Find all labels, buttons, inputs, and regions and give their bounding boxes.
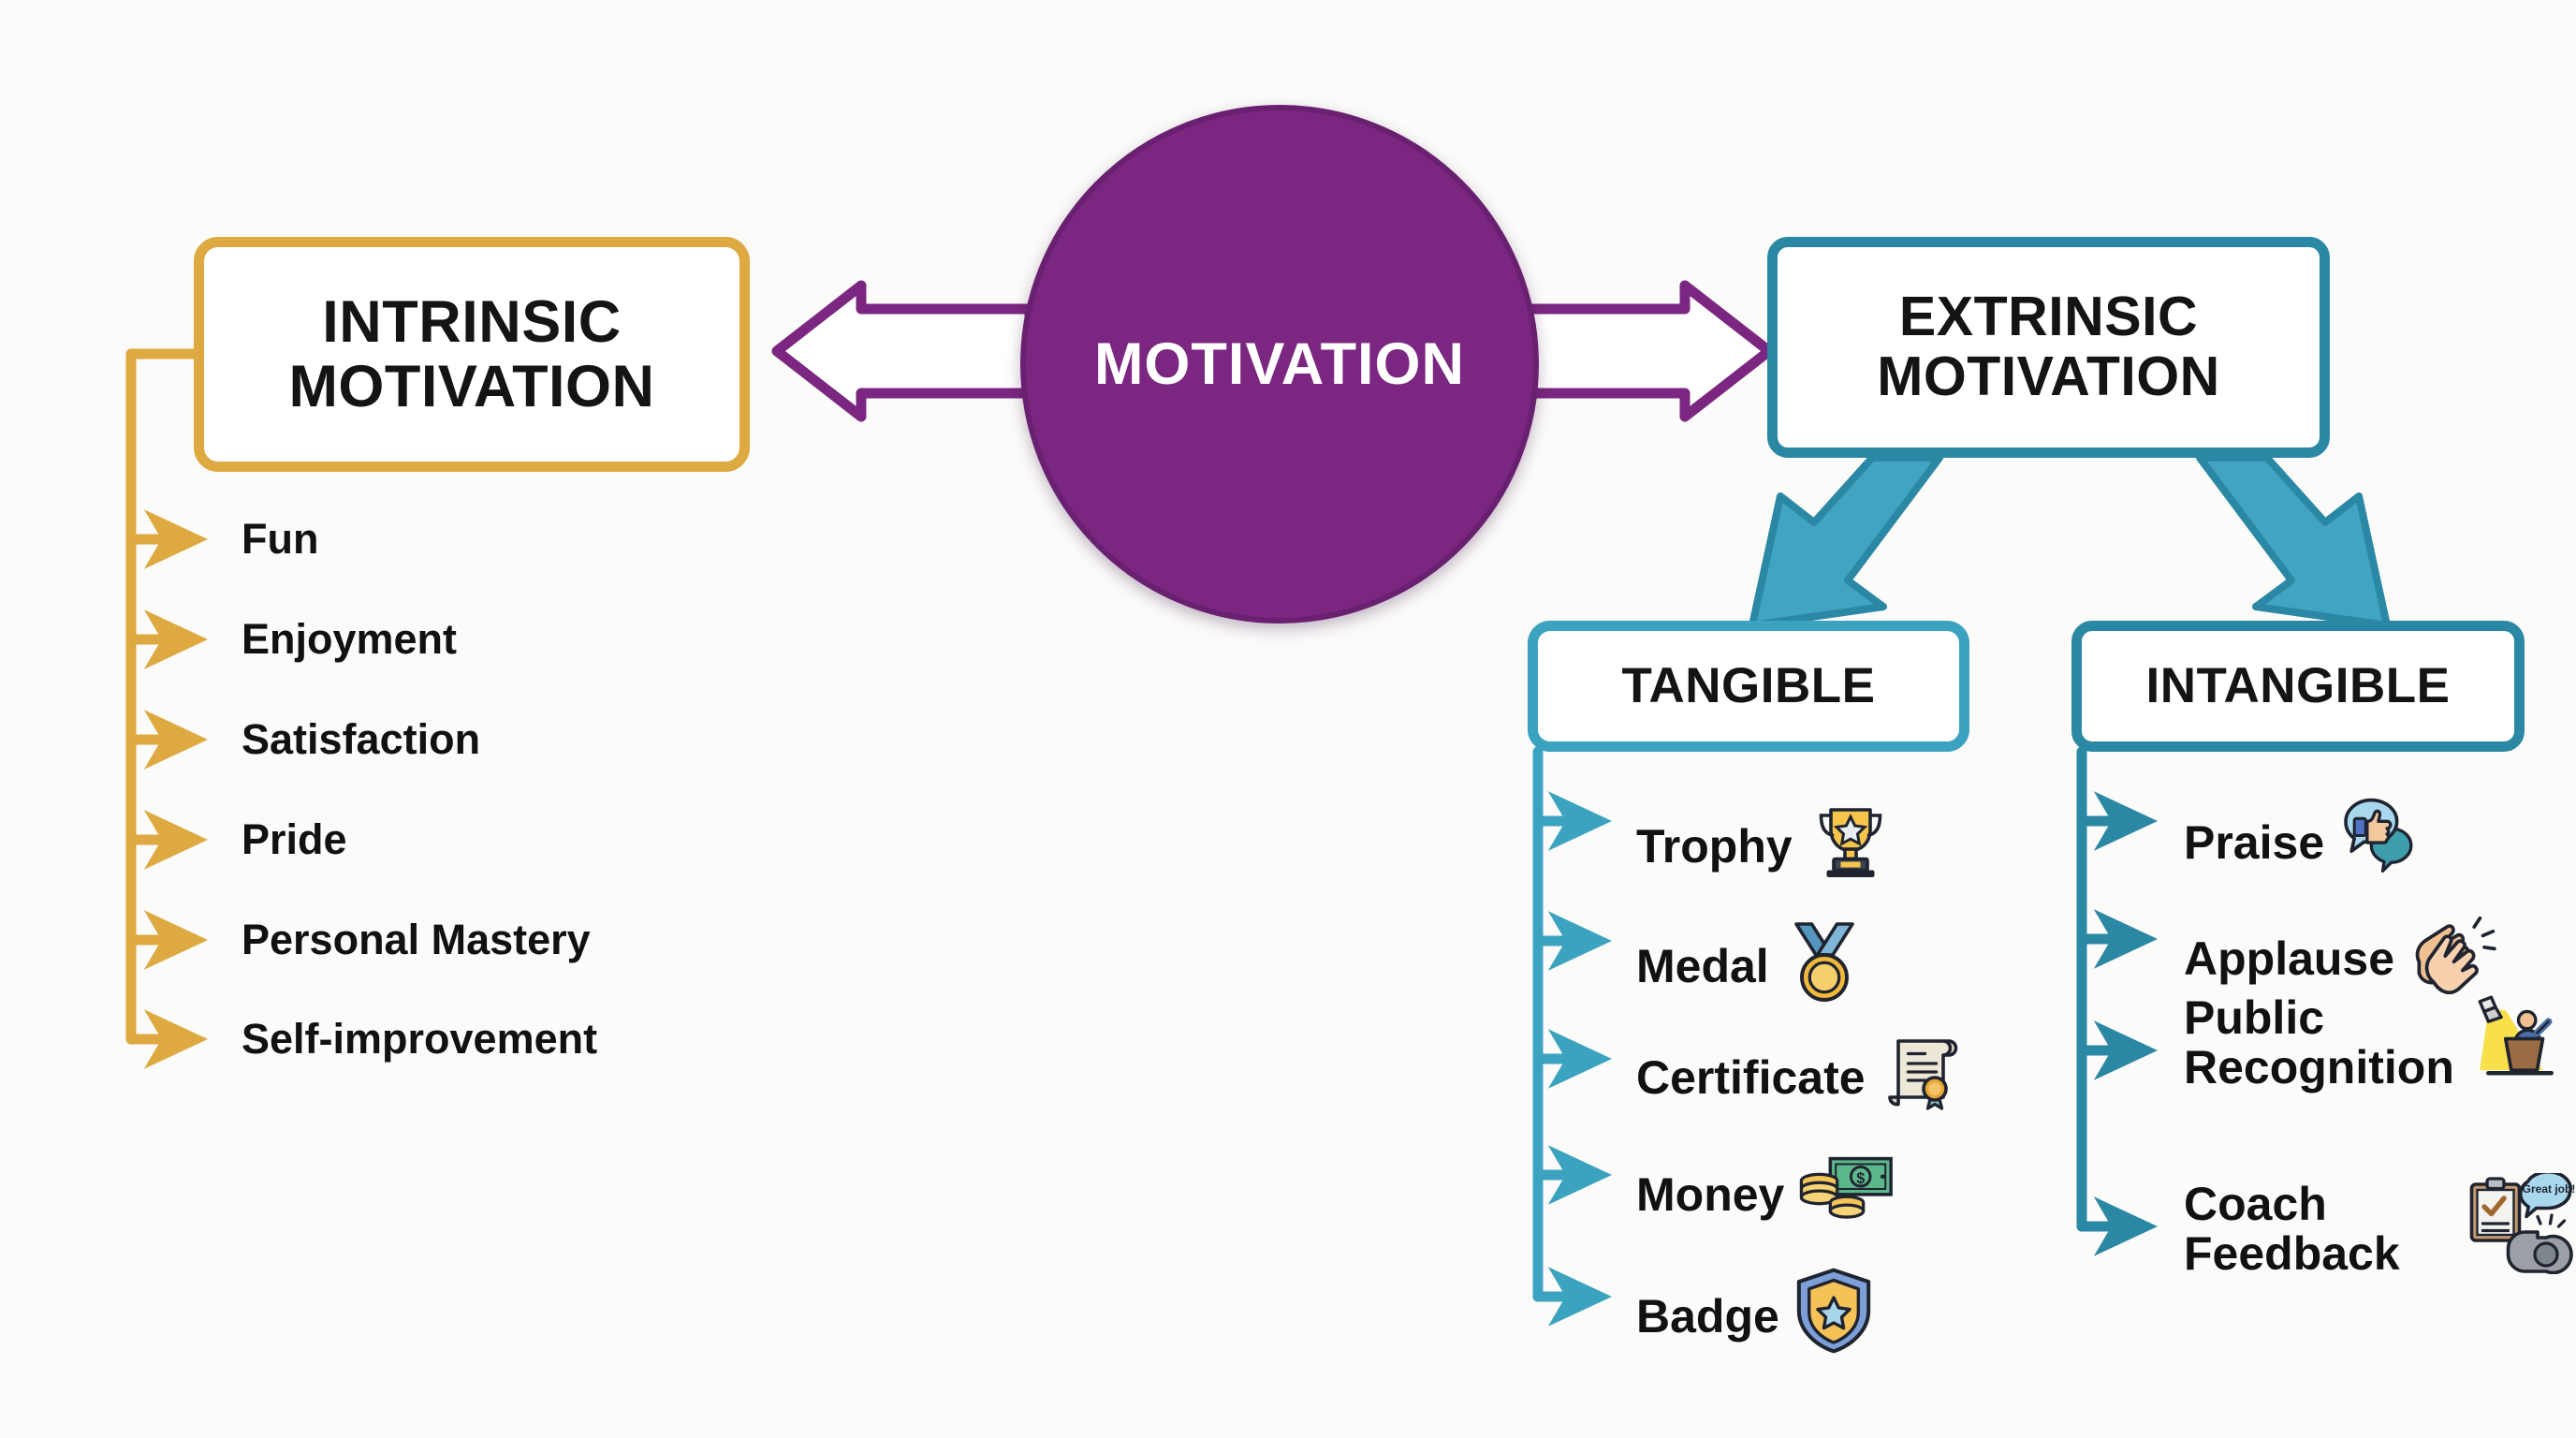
badge-icon bbox=[1793, 1266, 1875, 1367]
extrinsic-label-line1: EXTRINSIC bbox=[1899, 286, 2198, 347]
tangible-item-label: Certificate bbox=[1636, 1053, 1866, 1103]
intrinsic-motivation-label: INTRINSIC MOTIVATION bbox=[288, 290, 654, 418]
intrinsic-item-label: Pride bbox=[241, 817, 347, 862]
clipboard-whistle-icon: Great job! bbox=[2466, 1173, 2576, 1285]
intrinsic-connector-spine bbox=[131, 354, 194, 1039]
extrinsic-motivation-box[interactable]: EXTRINSIC MOTIVATION bbox=[1767, 237, 2330, 458]
intangible-item-label: Public Recognition bbox=[2184, 993, 2455, 1093]
list-item[interactable]: Coach Feedback Great job! bbox=[2184, 1173, 2576, 1285]
intrinsic-item-label: Fun bbox=[241, 517, 318, 562]
intrinsic-item-label: Satisfaction bbox=[241, 717, 480, 762]
tangible-label: TANGIBLE bbox=[1622, 659, 1876, 712]
list-item[interactable]: Certificate bbox=[1636, 1030, 1969, 1125]
podium-speaker-icon bbox=[2468, 992, 2566, 1093]
list-item[interactable]: Praise bbox=[2184, 794, 2431, 891]
intangible-item-label: Applause bbox=[2184, 934, 2394, 984]
intrinsic-item-label: Enjoyment bbox=[241, 617, 457, 662]
trophy-icon bbox=[1806, 796, 1895, 897]
tangible-connector-spine bbox=[1538, 752, 1591, 1297]
medal-icon bbox=[1782, 916, 1866, 1017]
list-item[interactable]: Medal bbox=[1636, 916, 1866, 1017]
extrinsic-motivation-label: EXTRINSIC MOTIVATION bbox=[1877, 287, 2220, 406]
list-item[interactable]: Fun bbox=[241, 517, 318, 562]
diagram-canvas: INTRINSIC MOTIVATION EXTRINSIC MOTIVATIO… bbox=[0, 0, 2576, 1438]
motivation-center-node[interactable]: MOTIVATION bbox=[1020, 105, 1539, 624]
great-job-text: Great job! bbox=[2523, 1182, 2576, 1196]
arrow-motivation-to-intrinsic bbox=[777, 286, 1030, 417]
tangible-box[interactable]: TANGIBLE bbox=[1528, 621, 1969, 752]
intangible-item-label: Praise bbox=[2184, 818, 2324, 868]
intrinsic-label-line2: MOTIVATION bbox=[288, 354, 654, 419]
tangible-item-label: Badge bbox=[1636, 1292, 1779, 1342]
tangible-item-label: Trophy bbox=[1636, 822, 1793, 872]
list-item[interactable]: Public Recognition bbox=[2184, 992, 2566, 1093]
intrinsic-label-line1: INTRINSIC bbox=[322, 289, 622, 355]
tangible-item-label: Medal bbox=[1636, 942, 1769, 991]
arrow-extrinsic-to-intangible bbox=[2200, 458, 2387, 625]
intangible-connector-spine bbox=[2082, 752, 2137, 1226]
arrow-motivation-to-extrinsic bbox=[1518, 286, 1769, 417]
extrinsic-label-line2: MOTIVATION bbox=[1877, 345, 2220, 407]
svg-text:$: $ bbox=[1857, 1170, 1866, 1187]
money-icon: $ bbox=[1797, 1150, 1896, 1240]
intrinsic-motivation-box[interactable]: INTRINSIC MOTIVATION bbox=[194, 237, 750, 472]
list-item[interactable]: Satisfaction bbox=[241, 717, 480, 762]
list-item[interactable]: Badge bbox=[1636, 1266, 1875, 1367]
tangible-item-label: Money bbox=[1636, 1170, 1784, 1220]
intangible-item-label: Coach Feedback bbox=[2184, 1180, 2452, 1279]
motivation-center-label: MOTIVATION bbox=[1094, 330, 1465, 398]
certificate-icon bbox=[1879, 1030, 1969, 1125]
arrow-extrinsic-to-tangible bbox=[1752, 458, 1939, 625]
intrinsic-item-label: Self-improvement bbox=[241, 1017, 597, 1062]
list-item[interactable]: Pride bbox=[241, 817, 347, 862]
list-item[interactable]: Self-improvement bbox=[241, 1017, 597, 1062]
intangible-label: INTANGIBLE bbox=[2146, 659, 2451, 712]
list-item[interactable]: Enjoyment bbox=[241, 617, 457, 662]
thumbs-up-speech-bubble-icon bbox=[2337, 794, 2431, 891]
list-item[interactable]: Trophy bbox=[1636, 796, 1895, 897]
intrinsic-item-label: Personal Mastery bbox=[241, 917, 591, 962]
list-item[interactable]: Money $ bbox=[1636, 1150, 1896, 1240]
list-item[interactable]: Personal Mastery bbox=[241, 917, 591, 962]
clapping-hands-icon bbox=[2408, 912, 2497, 1005]
intangible-box[interactable]: INTANGIBLE bbox=[2071, 621, 2525, 752]
